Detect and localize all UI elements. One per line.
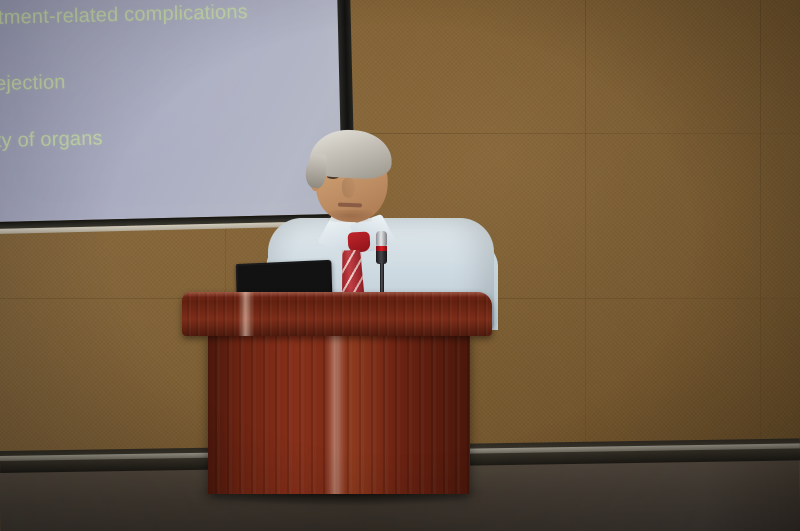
microphone (371, 231, 393, 293)
wall-seam-vertical (585, 0, 586, 470)
mouth (338, 203, 362, 208)
podium-desktop (182, 292, 492, 336)
podium-desktop-edge (182, 292, 492, 297)
nose (342, 178, 355, 198)
podium-column (208, 334, 470, 494)
chin-shadow (328, 210, 372, 222)
slide-bullet-line: rejection (0, 71, 66, 96)
wall-seam-vertical (760, 0, 761, 470)
presentation-photo: atment-related complications rejection l… (0, 0, 800, 531)
podium-specular-highlight (326, 334, 346, 494)
microphone-head (376, 231, 387, 246)
necktie-knot (347, 231, 370, 252)
slide-bullet-line: lity of organs (0, 127, 103, 153)
microphone-gooseneck (380, 263, 384, 295)
podium-desktop-grain (182, 292, 492, 336)
